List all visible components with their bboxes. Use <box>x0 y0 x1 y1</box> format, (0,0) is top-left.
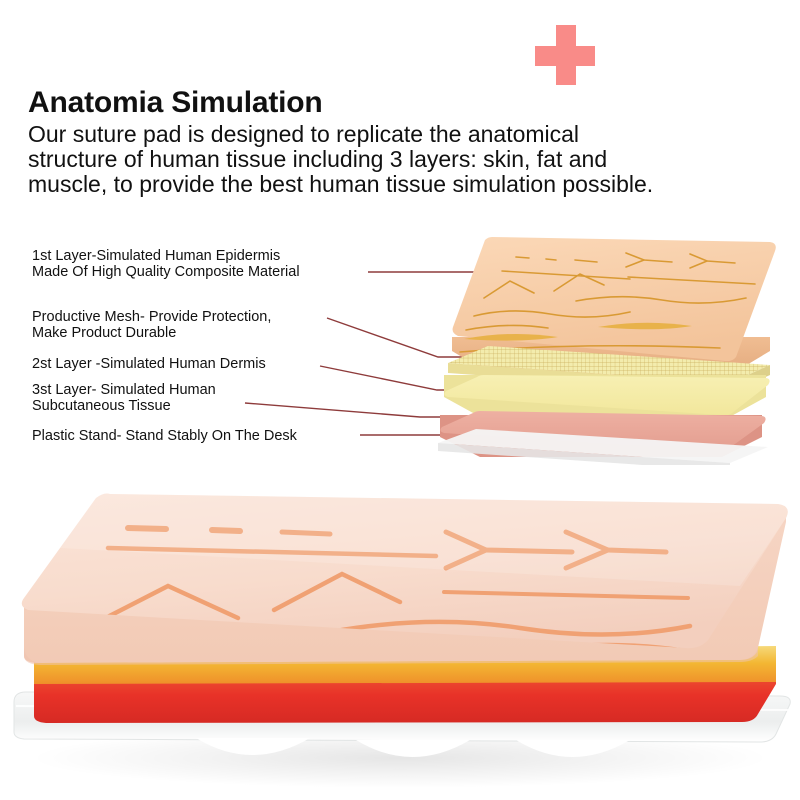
intro-paragraph: Our suture pad is designed to replicate … <box>28 122 768 197</box>
callout-label-subcutaneous: 3st Layer- Simulated Human Subcutaneous … <box>32 382 216 414</box>
callout-label-mesh: Productive Mesh- Provide Protection, Mak… <box>32 309 271 341</box>
infographic-page: Anatomia Simulation Our suture pad is de… <box>0 0 800 800</box>
callout-stand-line-1: Plastic Stand- Stand Stably On The Desk <box>32 428 297 444</box>
callout-label-dermis: 2st Layer -Simulated Human Dermis <box>32 356 266 372</box>
callout-subcutaneous-line-2: Subcutaneous Tissue <box>32 398 216 414</box>
callout-dermis-line-1: 2st Layer -Simulated Human Dermis <box>32 356 266 372</box>
page-title: Anatomia Simulation <box>28 86 323 120</box>
callout-subcutaneous-line-1: 3st Layer- Simulated Human <box>32 382 216 398</box>
callout-mesh-line-2: Make Product Durable <box>32 325 271 341</box>
callout-label-epidermis: 1st Layer-Simulated Human Epidermis Made… <box>32 248 300 280</box>
callout-epidermis-line-2: Made Of High Quality Composite Material <box>32 264 300 280</box>
callout-epidermis-line-1: 1st Layer-Simulated Human Epidermis <box>32 248 300 264</box>
suture-pad-product-photo <box>0 470 800 800</box>
intro-line-1: Our suture pad is designed to replicate … <box>28 122 768 147</box>
medical-cross-icon <box>535 25 595 85</box>
callout-mesh-line-1: Productive Mesh- Provide Protection, <box>32 309 271 325</box>
stand-feet-scallops <box>196 738 630 757</box>
intro-line-2: structure of human tissue including 3 la… <box>28 147 768 172</box>
callout-label-stand: Plastic Stand- Stand Stably On The Desk <box>32 428 297 444</box>
exploded-layer-diagram <box>430 215 800 465</box>
intro-line-3: muscle, to provide the best human tissue… <box>28 172 768 197</box>
cross-vertical-bar <box>556 25 576 85</box>
